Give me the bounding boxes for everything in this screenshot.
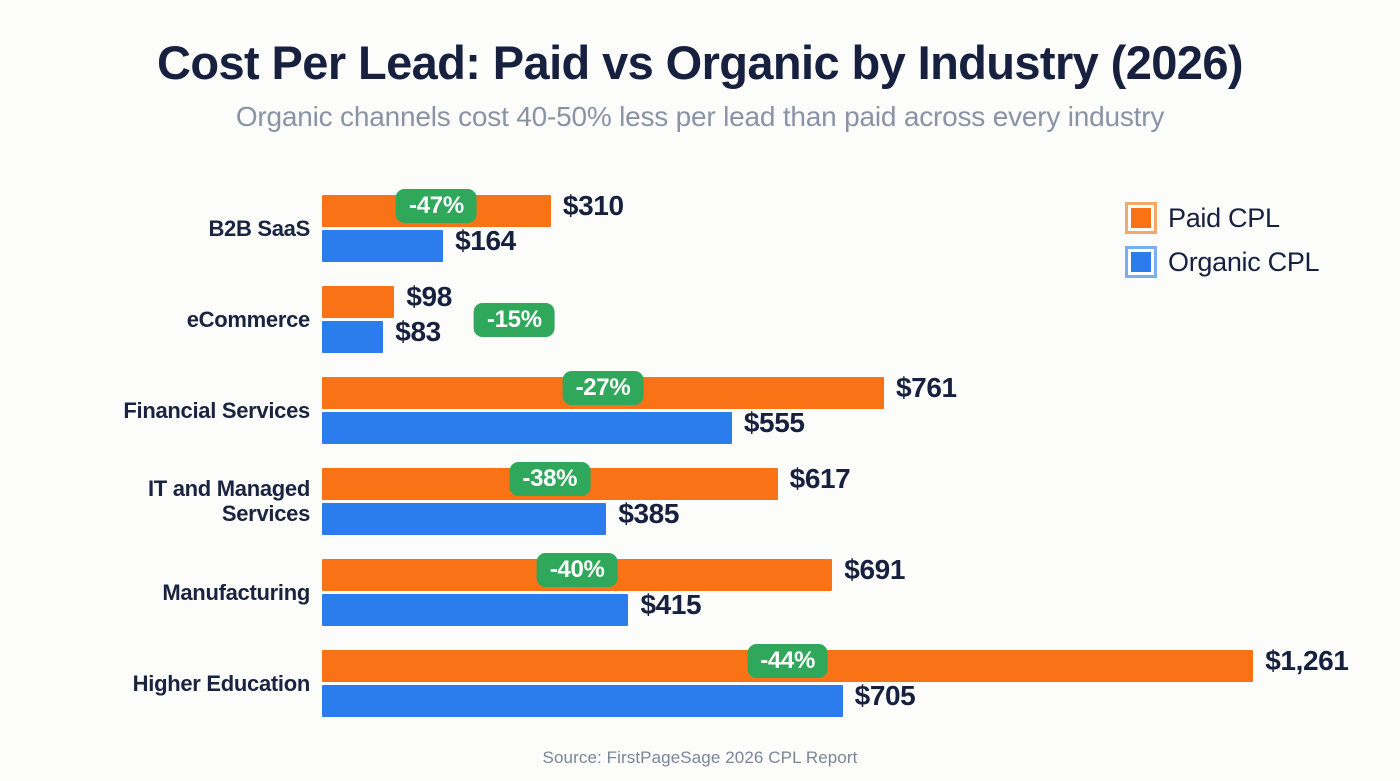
bar-value-organic: $705 (855, 680, 916, 712)
legend-item-paid[interactable]: Paid CPL (1128, 196, 1319, 240)
category-label: Higher Education (10, 671, 310, 696)
delta-badge: -15% (474, 303, 555, 337)
category-label-line: Services (10, 501, 310, 526)
bar-group: eCommerce$98$83-15% (0, 286, 1400, 356)
category-label-line: Higher Education (10, 671, 310, 696)
plot-area: B2B SaaS$310$164-47%eCommerce$98$83-15%F… (0, 0, 1400, 781)
bar-value-paid: $761 (896, 372, 957, 404)
category-label: Manufacturing (10, 580, 310, 605)
bar-organic[interactable] (322, 594, 628, 626)
delta-badge: -40% (537, 553, 618, 587)
bar-organic[interactable] (322, 685, 843, 717)
bar-value-organic: $83 (395, 316, 441, 348)
category-label-line: IT and Managed (10, 476, 310, 501)
delta-badge: -38% (509, 462, 590, 496)
bar-group: IT and ManagedServices$617$385-38% (0, 468, 1400, 538)
legend-item-organic[interactable]: Organic CPL (1128, 240, 1319, 284)
source-note: Source: FirstPageSage 2026 CPL Report (0, 748, 1400, 768)
bar-value-paid: $691 (844, 554, 905, 586)
bar-value-organic: $164 (455, 225, 516, 257)
category-label-line: B2B SaaS (10, 216, 310, 241)
category-label-line: eCommerce (10, 307, 310, 332)
bar-paid[interactable] (322, 286, 394, 318)
bar-value-paid: $98 (406, 281, 452, 313)
bar-value-organic: $555 (744, 407, 805, 439)
category-label: IT and ManagedServices (10, 476, 310, 527)
category-label: Financial Services (10, 398, 310, 423)
bar-organic[interactable] (322, 321, 383, 353)
bar-value-paid: $617 (790, 463, 851, 495)
legend-swatch-paid-icon (1128, 205, 1154, 231)
bar-group: Financial Services$761$555-27% (0, 377, 1400, 447)
bar-value-paid: $310 (563, 190, 624, 222)
bar-value-paid: $1,261 (1265, 645, 1348, 677)
delta-badge: -47% (396, 189, 477, 223)
category-label: eCommerce (10, 307, 310, 332)
category-label-line: Financial Services (10, 398, 310, 423)
bar-organic[interactable] (322, 412, 732, 444)
bar-group: Higher Education$1,261$705-44% (0, 650, 1400, 720)
delta-badge: -44% (747, 644, 828, 678)
chart-root: Cost Per Lead: Paid vs Organic by Indust… (0, 0, 1400, 781)
bar-value-organic: $415 (640, 589, 701, 621)
category-label: B2B SaaS (10, 216, 310, 241)
category-label-line: Manufacturing (10, 580, 310, 605)
bar-value-organic: $385 (618, 498, 679, 530)
legend-label: Paid CPL (1168, 203, 1280, 234)
legend-label: Organic CPL (1168, 247, 1319, 278)
bar-organic[interactable] (322, 230, 443, 262)
legend-swatch-organic-icon (1128, 249, 1154, 275)
delta-badge: -27% (563, 371, 644, 405)
chart-legend: Paid CPLOrganic CPL (1128, 196, 1319, 284)
bar-organic[interactable] (322, 503, 606, 535)
bar-group: Manufacturing$691$415-40% (0, 559, 1400, 629)
